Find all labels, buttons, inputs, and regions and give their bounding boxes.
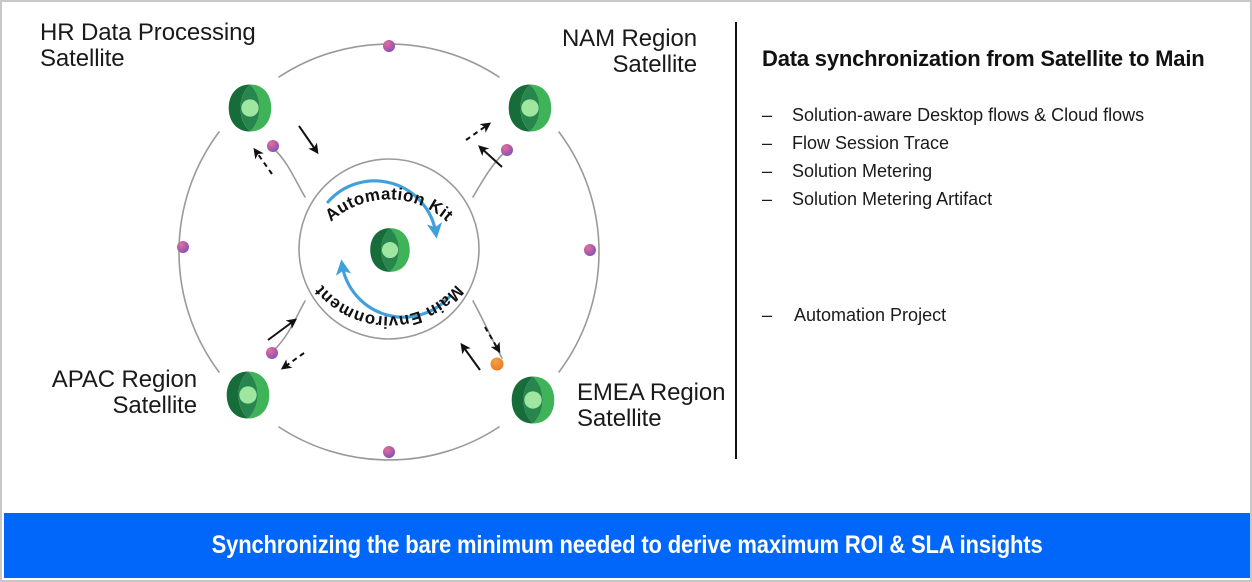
connector-dot-apac: [266, 347, 278, 359]
list-item-label: Solution Metering Artifact: [792, 186, 1232, 214]
panel-heading: Data synchronization from Satellite to M…: [762, 46, 1232, 72]
arrow-dashed-apac: [283, 353, 304, 368]
sync-entity-list: – Solution-aware Desktop flows & Cloud f…: [762, 102, 1232, 214]
satellite-topology-diagram: Automation Kit Main Environment: [2, 2, 737, 502]
node-icon-apac: [227, 371, 270, 418]
node-label-apac: APAC Region Satellite: [12, 367, 197, 420]
arrow-solid-apac: [268, 320, 295, 340]
list-item-label: Solution Metering: [792, 158, 1232, 186]
bullet-dash: –: [762, 102, 792, 130]
banner-text: Synchronizing the bare minimum needed to…: [212, 531, 1043, 560]
node-icon-hr: [229, 84, 272, 131]
node-label-emea: EMEA Region Satellite: [577, 380, 777, 433]
list-item-label: Flow Session Trace: [792, 130, 1232, 158]
ring-dot-right: [584, 244, 596, 256]
bottom-banner: Synchronizing the bare minimum needed to…: [4, 513, 1250, 578]
list-item: – Solution-aware Desktop flows & Cloud f…: [762, 102, 1232, 130]
center-bottom-arc-label: Main Environment: [310, 282, 467, 332]
list-item-label: Solution-aware Desktop flows & Cloud flo…: [792, 102, 1232, 130]
ring-dot-left: [177, 241, 189, 253]
slide-canvas: Automation Kit Main Environment: [0, 0, 1252, 582]
vertical-divider: [735, 22, 737, 459]
ring-dot-top: [383, 40, 395, 52]
node-icon-emea: [512, 376, 555, 423]
connector-apac: [274, 301, 305, 350]
list-item: – Solution Metering Artifact: [762, 186, 1232, 214]
list-item-label: Automation Project: [794, 302, 1232, 330]
connector-nam: [473, 152, 505, 197]
sync-entity-list-secondary: – Automation Project: [762, 302, 1232, 330]
list-item: – Solution Metering: [762, 158, 1232, 186]
bullet-dash: –: [762, 302, 794, 330]
arrow-solid-emea: [462, 345, 480, 370]
arrow-dashed-hr: [255, 150, 272, 174]
bullet-dash: –: [762, 186, 792, 214]
list-item: – Automation Project: [762, 302, 1232, 330]
ring-dot-bottom: [383, 446, 395, 458]
center-environment-icon: [370, 228, 410, 272]
connector-dot-emea: [491, 358, 504, 371]
sync-details-panel: Data synchronization from Satellite to M…: [762, 46, 1232, 329]
arrow-solid-nam: [480, 147, 502, 167]
node-label-hr: HR Data Processing Satellite: [40, 20, 320, 73]
arrow-solid-hr: [299, 126, 317, 152]
connector-dot-nam: [501, 144, 513, 156]
bullet-dash: –: [762, 158, 792, 186]
connector-hr: [274, 149, 305, 197]
node-icon-nam: [509, 84, 552, 131]
bullet-dash: –: [762, 130, 792, 158]
list-item: – Flow Session Trace: [762, 130, 1232, 158]
connector-dot-hr: [267, 140, 279, 152]
node-label-nam: NAM Region Satellite: [422, 26, 697, 79]
arrow-dashed-nam: [466, 124, 489, 140]
